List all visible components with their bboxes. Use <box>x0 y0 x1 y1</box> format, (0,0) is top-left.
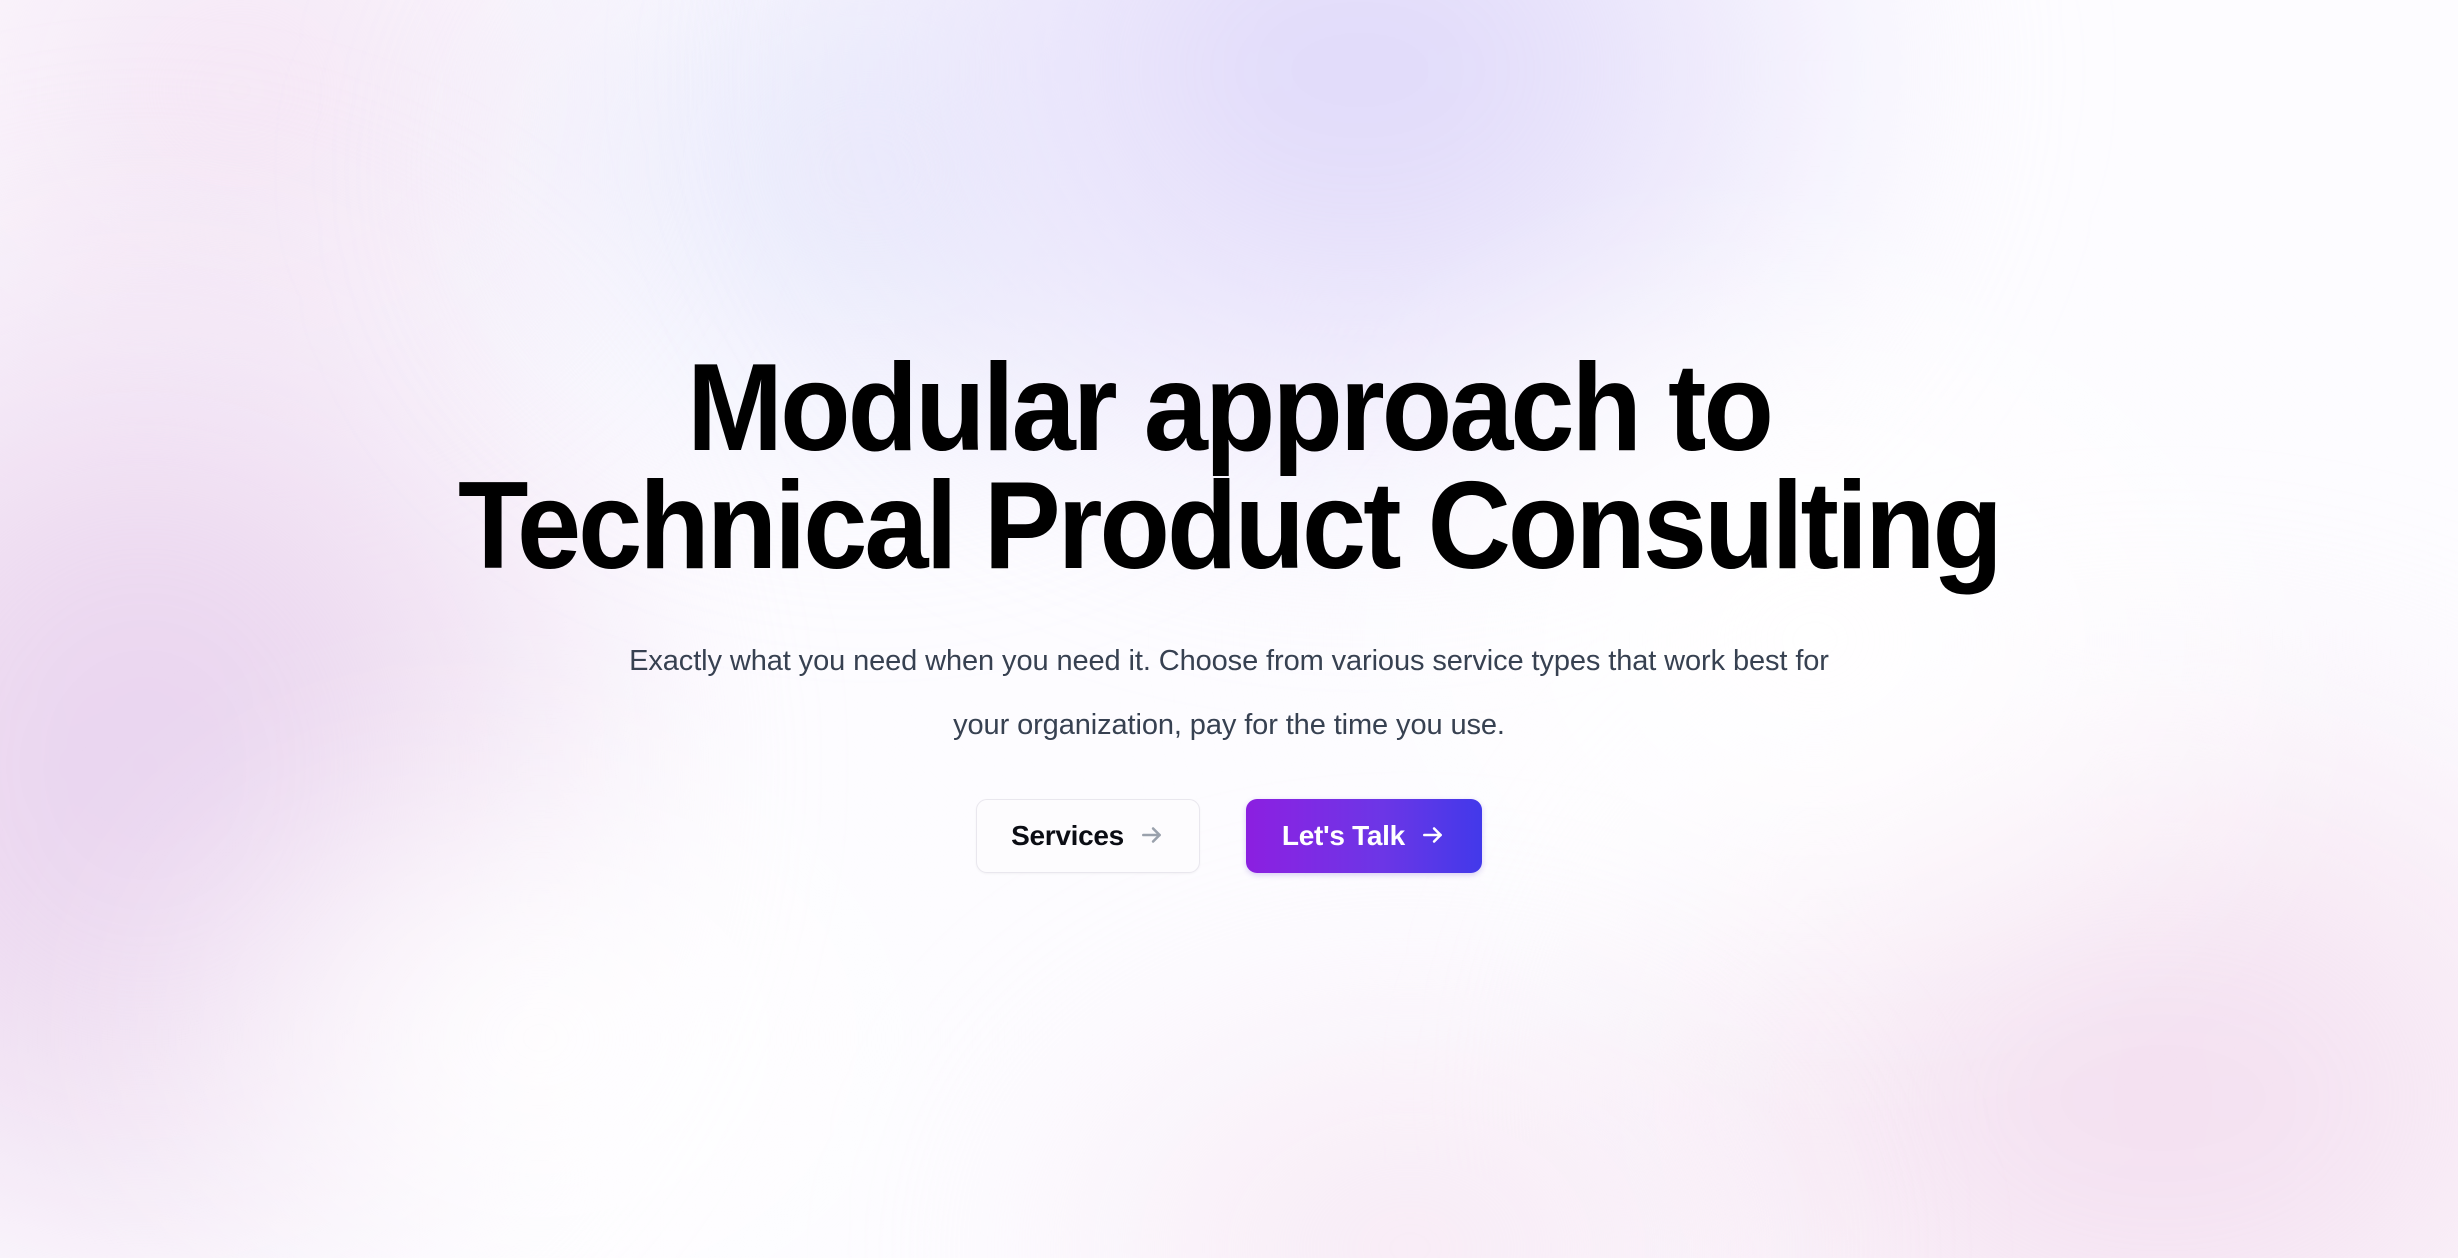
arrow-right-icon <box>1420 822 1446 848</box>
services-button-label: Services <box>1011 820 1124 852</box>
hero-subtitle-line-1: Exactly what you need when you need it. … <box>0 629 2458 693</box>
page-title: Modular approach to Technical Product Co… <box>86 349 2372 585</box>
hero-section: Modular approach to Technical Product Co… <box>0 0 2458 1258</box>
background-blob-bottom-center <box>960 938 1860 1258</box>
page-title-line-2: Technical Product Consulting <box>86 467 2372 585</box>
hero-actions: Services Let's Talk <box>0 799 2458 873</box>
hero-subtitle: Exactly what you need when you need it. … <box>0 629 2458 757</box>
services-button[interactable]: Services <box>976 799 1200 873</box>
hero-content: Modular approach to Technical Product Co… <box>0 349 2458 873</box>
hero-subtitle-line-2: your organization, pay for the time you … <box>0 693 2458 757</box>
arrow-right-icon <box>1139 822 1165 848</box>
page-title-line-1: Modular approach to <box>86 349 2372 467</box>
lets-talk-button[interactable]: Let's Talk <box>1246 799 1482 873</box>
lets-talk-button-label: Let's Talk <box>1282 820 1405 852</box>
